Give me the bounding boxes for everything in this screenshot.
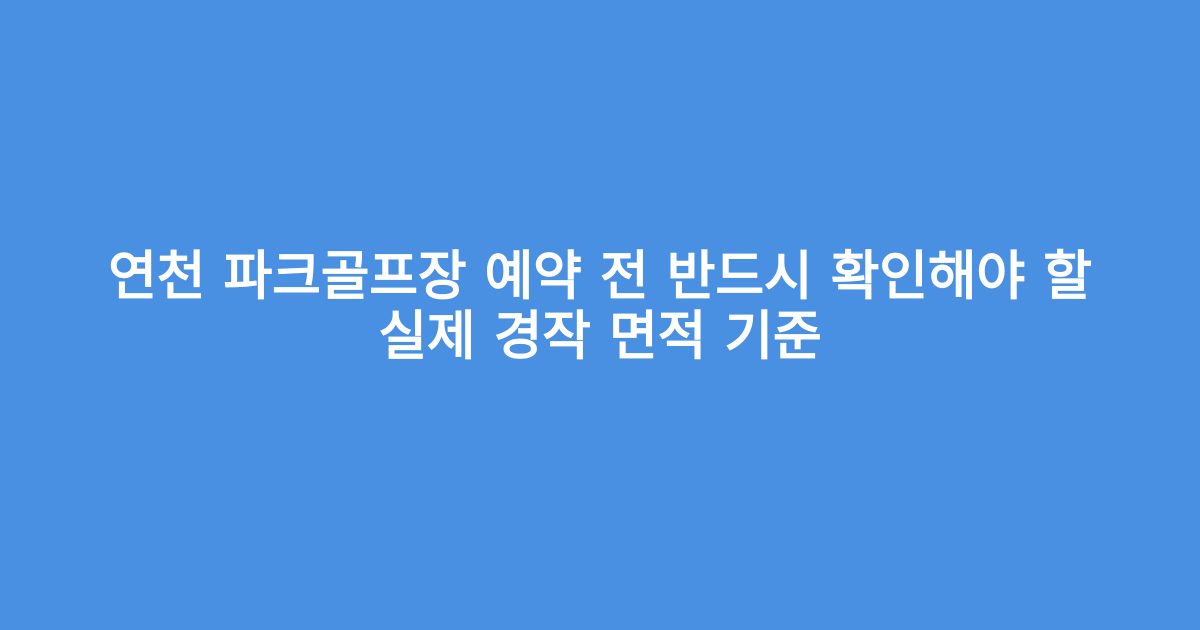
- social-share-card: 연천 파크골프장 예약 전 반드시 확인해야 할 실제 경작 면적 기준: [0, 0, 1200, 630]
- page-title: 연천 파크골프장 예약 전 반드시 확인해야 할 실제 경작 면적 기준: [65, 247, 1135, 367]
- headline-block: 연천 파크골프장 예약 전 반드시 확인해야 할 실제 경작 면적 기준: [65, 247, 1135, 367]
